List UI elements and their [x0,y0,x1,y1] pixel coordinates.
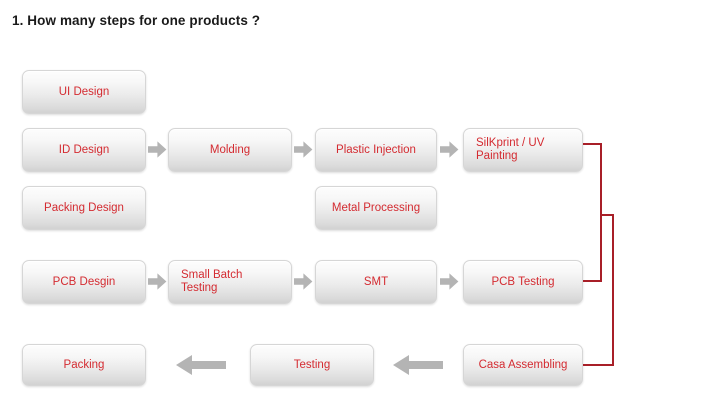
arrow-smt-to-pcb-testing-icon [440,272,459,291]
connector-inner-vertical-lower [600,214,602,282]
node-pcb-testing-label: PCB Testing [491,276,554,289]
arrow-casa-assembling-to-testing-icon [393,353,443,377]
node-testing[interactable]: Testing [250,344,374,386]
node-id-design[interactable]: ID Design [22,128,146,172]
node-ui-design-label: UI Design [59,86,110,99]
node-silkprint-uv-painting-label: SilKprint / UV Painting [476,137,544,163]
node-pcb-design-label: PCB Desgin [53,276,116,289]
page-title: 1. How many steps for one products ? [12,13,260,28]
connector-inner-vertical-upper [600,143,602,216]
connector-pcb-testing-horizontal [583,280,602,282]
node-packing-design-label: Packing Design [44,202,124,215]
arrow-small-batch-to-smt-icon [294,272,313,291]
arrow-pcb-design-to-small-batch-icon [148,272,167,291]
node-small-batch-testing-label: Small Batch Testing [181,269,242,295]
node-pcb-design[interactable]: PCB Desgin [22,260,146,304]
node-ui-design[interactable]: UI Design [22,70,146,114]
node-molding[interactable]: Molding [168,128,292,172]
node-smt-label: SMT [364,276,388,289]
node-casa-assembling[interactable]: Casa Assembling [463,344,583,386]
node-packing-design[interactable]: Packing Design [22,186,146,230]
node-packing[interactable]: Packing [22,344,146,386]
node-casa-assembling-label: Casa Assembling [479,359,568,372]
node-plastic-injection-label: Plastic Injection [336,144,416,157]
node-smt[interactable]: SMT [315,260,437,304]
node-metal-processing[interactable]: Metal Processing [315,186,437,230]
arrow-testing-to-packing-icon [176,353,226,377]
arrow-molding-to-plastic-injection-icon [294,140,313,159]
node-packing-label: Packing [64,359,105,372]
flowchart-canvas: 1. How many steps for one products ? UI … [0,0,719,402]
arrow-id-design-to-molding-icon [148,140,167,159]
node-molding-label: Molding [210,144,250,157]
node-silkprint-uv-painting[interactable]: SilKprint / UV Painting [463,128,583,172]
arrow-plastic-injection-to-silkprint-icon [440,140,459,159]
connector-casa-assembling-horizontal [583,364,614,366]
node-small-batch-testing[interactable]: Small Batch Testing [168,260,292,304]
node-id-design-label: ID Design [59,144,110,157]
node-metal-processing-label: Metal Processing [332,202,420,215]
node-testing-label: Testing [294,359,330,372]
connector-outer-vertical [612,214,614,366]
node-plastic-injection[interactable]: Plastic Injection [315,128,437,172]
node-pcb-testing[interactable]: PCB Testing [463,260,583,304]
